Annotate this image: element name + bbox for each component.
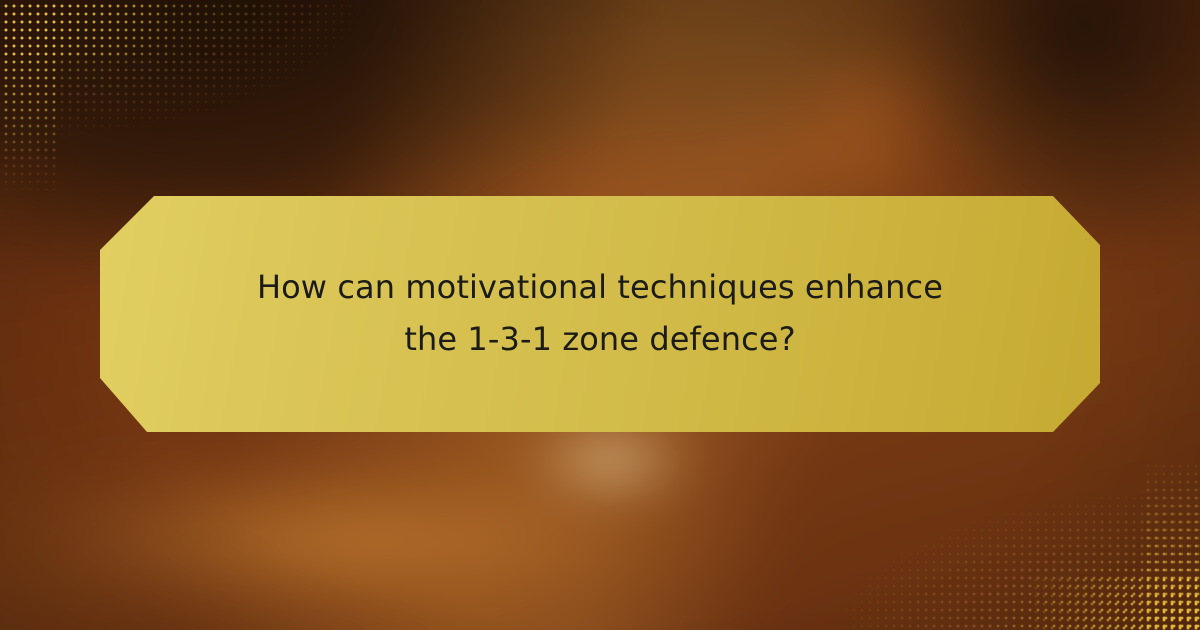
halftone-dots-top-left-tall bbox=[0, 0, 60, 190]
question-text: How can motivational techniques enhance … bbox=[170, 262, 1030, 366]
question-card: How can motivational techniques enhance … bbox=[100, 196, 1100, 432]
question-card-graphic: How can motivational techniques enhance … bbox=[0, 0, 1200, 630]
halftone-dots-bottom-right-wide bbox=[1030, 574, 1200, 630]
